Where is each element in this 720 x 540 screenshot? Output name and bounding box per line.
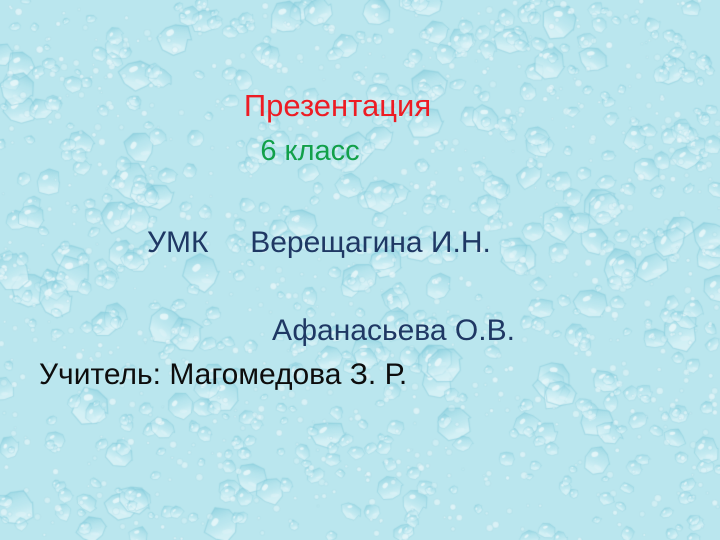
slide-line-author: Афанасьева О.В.	[272, 316, 515, 346]
slide-text-layer: Презентация 6 класс УМК Верещагина И.Н. …	[0, 0, 720, 540]
presentation-slide: Презентация 6 класс УМК Верещагина И.Н. …	[0, 0, 720, 540]
slide-line-umk: УМК Верещагина И.Н.	[147, 228, 491, 258]
slide-line-teacher: Учитель: Магомедова З. Р.	[39, 360, 407, 390]
slide-title: Презентация	[0, 90, 675, 121]
slide-subtitle-grade: 6 класс	[0, 137, 620, 166]
